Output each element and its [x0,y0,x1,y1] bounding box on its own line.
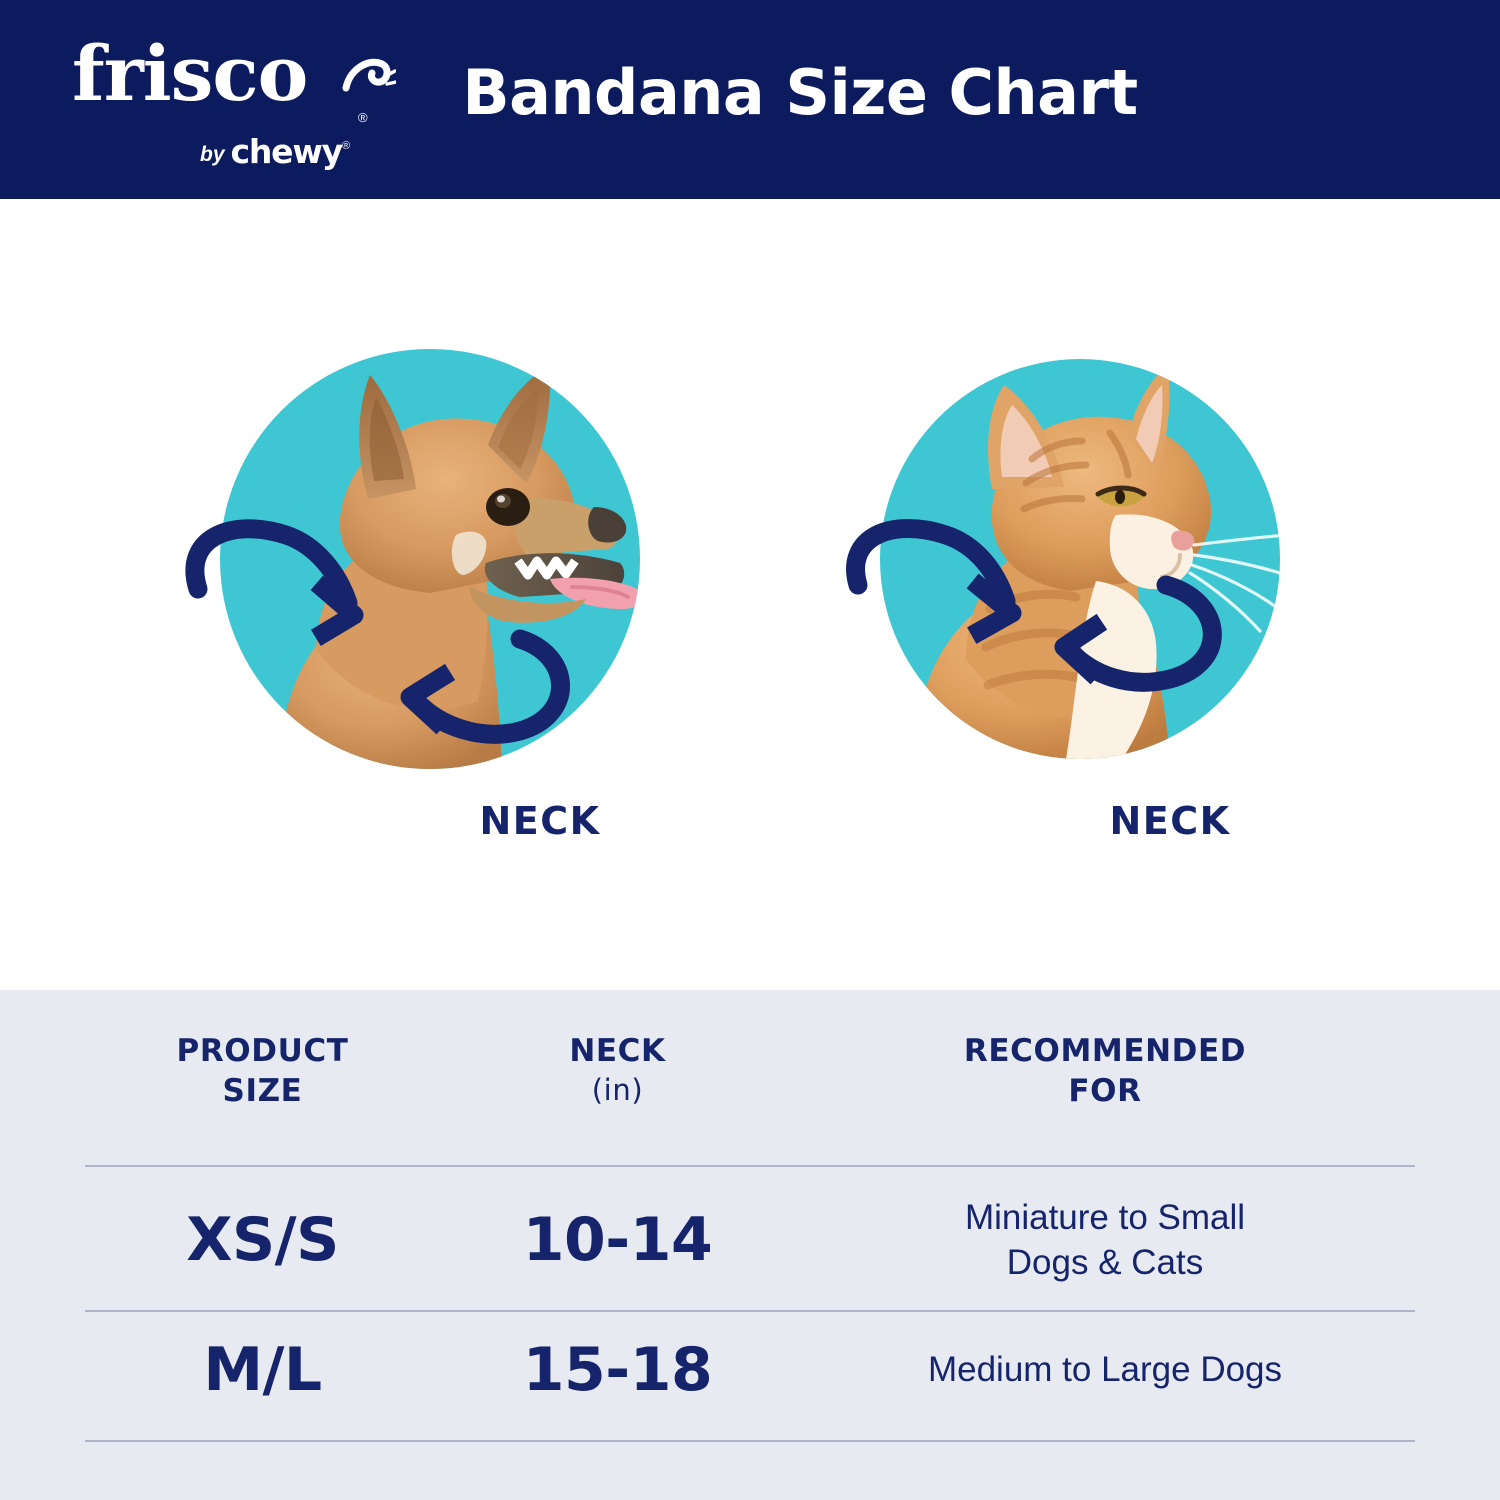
cell-recommended-for: Medium to Large Dogs [795,1347,1415,1393]
cat-illustration-block: NECK [760,199,1400,990]
cat-neck-measure-arrow-icon [880,359,1280,759]
dog-illustration-block: NECK [110,199,750,990]
column-header-neck: NECK (in) [440,1020,795,1109]
cell-neck-range: 15-18 [440,1339,795,1402]
table-row: M/L 15-18 Medium to Large Dogs [85,1310,1415,1430]
brand-subline: bychewy® [200,132,350,171]
header-band: frisco ® bychewy® Bandana Size Chart [0,0,1500,199]
cell-recommended-line1: Miniature to Small [795,1195,1415,1241]
dog-neck-label: NECK [110,799,860,843]
table-divider [85,1310,1415,1312]
dog-stage [220,349,640,769]
cell-recommended-line1: Medium to Large Dogs [795,1347,1415,1393]
cell-neck-range: 10-14 [440,1209,795,1272]
cell-product-size: M/L [85,1339,440,1402]
brand-chewy-registered-mark: ® [342,140,350,152]
column-header-recommended-line1: RECOMMENDED [795,1032,1415,1072]
table-header-row: PRODUCT SIZE NECK (in) RECOMMENDED FOR [85,1020,1415,1160]
table-divider [85,1165,1415,1167]
cat-stage [880,359,1280,759]
dog-neck-measure-arrow-icon [220,349,640,769]
cat-neck-label: NECK [760,799,1490,843]
column-header-recommended-for: RECOMMENDED FOR [795,1020,1415,1111]
page-title: Bandana Size Chart [0,56,1500,129]
column-header-product-size-line2: SIZE [85,1072,440,1112]
brand-by-label: by [200,143,225,166]
column-header-product-size-line1: PRODUCT [85,1032,440,1072]
column-header-product-size: PRODUCT SIZE [85,1020,440,1111]
brand-chewy-label: chewy [231,132,342,171]
table-row: XS/S 10-14 Miniature to Small Dogs & Cat… [85,1175,1415,1305]
illustration-area: NECK [0,199,1500,990]
column-header-recommended-line2: FOR [795,1072,1415,1112]
cell-product-size: XS/S [85,1209,440,1272]
cell-recommended-for: Miniature to Small Dogs & Cats [795,1195,1415,1286]
size-table: PRODUCT SIZE NECK (in) RECOMMENDED FOR X… [0,990,1500,1500]
column-header-neck-unit: (in) [440,1072,795,1109]
bandana-size-chart-page: frisco ® bychewy® Bandana Size Chart [0,0,1500,1500]
table-divider [85,1440,1415,1442]
column-header-neck-line1: NECK [440,1032,795,1072]
cell-recommended-line2: Dogs & Cats [795,1240,1415,1286]
